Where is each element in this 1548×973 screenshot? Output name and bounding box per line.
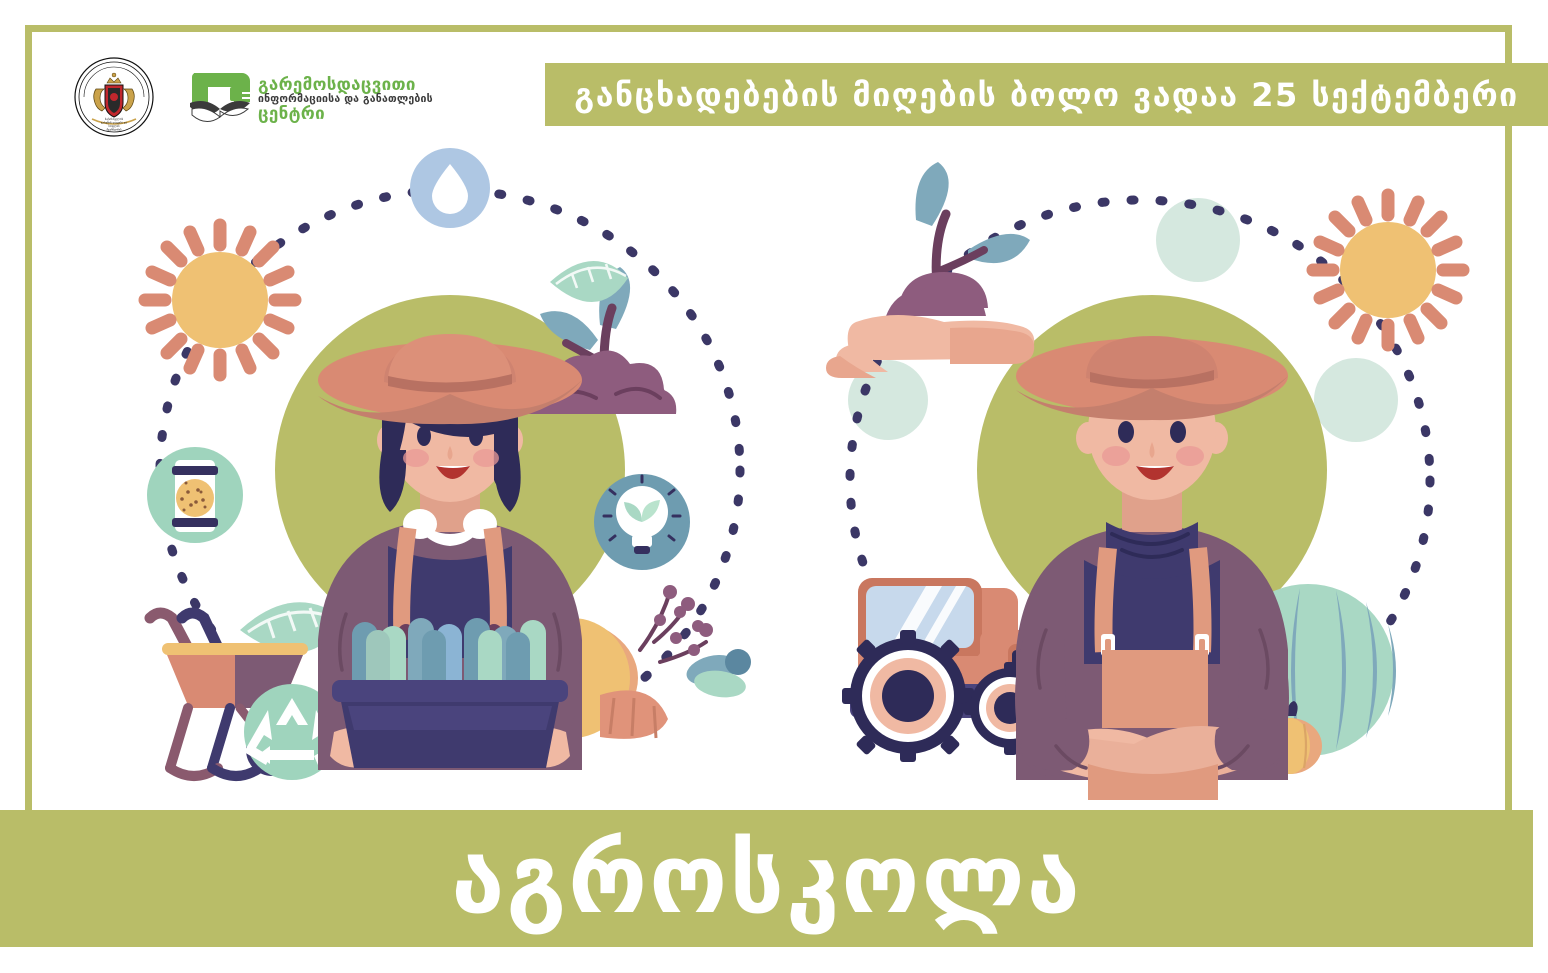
footer-title-text: აგროსკოლა — [451, 823, 1081, 935]
female-farmer-figure — [318, 334, 582, 770]
decorative-circle — [1314, 358, 1398, 442]
footer-title-band: აგროსკოლა — [0, 810, 1533, 947]
sun-icon — [1313, 195, 1463, 345]
poster-root: საქართველოს გარემოს დაცვისა და სოფლის მე… — [0, 0, 1548, 973]
svg-text:საქართველოს: საქართველოს — [105, 117, 124, 121]
svg-text:მეურნეობის: მეურნეობის — [107, 128, 122, 132]
coat-of-arms-icon: საქართველოს გარემოს დაცვისა და სოფლის მე… — [74, 57, 154, 137]
sun-icon — [145, 225, 295, 375]
svg-text:სოფლის: სოფლის — [109, 124, 121, 128]
center-logo-line-3: ცენტრი — [258, 106, 433, 124]
svg-text:გარემოს დაცვისა და: გარემოს დაცვისა და — [101, 121, 128, 125]
decorative-circle — [1156, 198, 1240, 282]
jam-jar-icon — [147, 447, 243, 543]
open-book-logo-icon — [190, 69, 252, 131]
hand-with-sprout-icon — [826, 162, 1034, 378]
vegetable-crate-icon — [332, 618, 568, 768]
left-illustration — [120, 150, 780, 800]
deadline-banner-text: განცხადებების მიღების ბოლო ვადაა 25 სექტ… — [574, 76, 1518, 114]
deadline-banner: განცხადებების მიღების ბოლო ვადაა 25 სექტ… — [545, 63, 1548, 126]
right-illustration — [800, 150, 1500, 800]
center-logo: გარემოსდაცვითი ინფორმაციისა და განათლები… — [190, 64, 440, 136]
tractor-rear-wheel — [842, 630, 974, 762]
water-drop-icon — [410, 148, 490, 228]
center-logo-line-1: გარემოსდაცვითი — [258, 77, 433, 95]
lightbulb-eco-icon — [594, 474, 690, 570]
